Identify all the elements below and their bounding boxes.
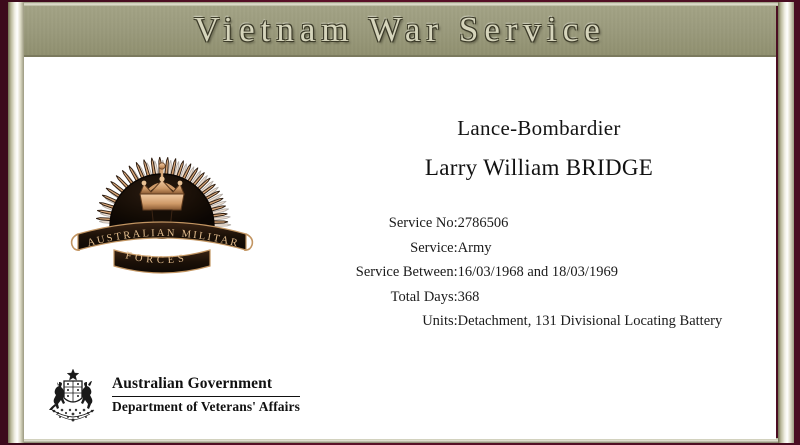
certificate-frame: Vietnam War Service <box>0 0 800 445</box>
australian-government-logo: Australian Government Department of Vete… <box>42 366 300 424</box>
government-wordmark: Australian Government Department of Vete… <box>112 375 300 415</box>
field-label-units: Units: <box>356 309 458 334</box>
table-row: Units: Detachment, 131 Divisional Locati… <box>356 309 722 334</box>
government-line-1: Australian Government <box>112 375 300 395</box>
government-line-2: Department of Veterans' Affairs <box>112 399 300 415</box>
frame-bevel-left <box>8 2 24 443</box>
certificate-page: Vietnam War Service <box>24 6 776 439</box>
frame-bevel-right <box>778 2 794 443</box>
field-value-units: Detachment, 131 Divisional Locating Batt… <box>458 309 723 334</box>
service-details-table: Service No: 2786506 Service: Army Servic… <box>356 211 722 334</box>
service-record: Lance-Bombardier Larry William BRIDGE Se… <box>314 116 764 334</box>
field-value-total-days: 368 <box>458 285 723 310</box>
page-title: Vietnam War Service <box>24 10 776 50</box>
title-band: Vietnam War Service <box>24 6 776 57</box>
table-row: Total Days: 368 <box>356 285 722 310</box>
field-label-total-days: Total Days: <box>356 285 458 310</box>
table-row: Service: Army <box>356 236 722 261</box>
table-row: Service No: 2786506 <box>356 211 722 236</box>
field-label-service-no: Service No: <box>356 211 458 236</box>
table-row: Service Between: 16/03/1968 and 18/03/19… <box>356 260 722 285</box>
rising-sun-badge: AUSTRALIAN MILITARY FORCES <box>52 98 272 288</box>
field-value-service-no: 2786506 <box>458 211 723 236</box>
field-label-service-between: Service Between: <box>356 260 458 285</box>
scroll-lower: FORCES <box>114 250 210 273</box>
field-value-service: Army <box>458 236 723 261</box>
commonwealth-coat-of-arms-icon <box>42 366 104 424</box>
wordmark-divider <box>112 396 300 397</box>
field-value-service-between: 16/03/1968 and 18/03/1969 <box>458 260 723 285</box>
rank-title: Lance-Bombardier <box>314 116 764 141</box>
field-label-service: Service: <box>356 236 458 261</box>
scroll-upper: AUSTRALIAN MILITARY <box>52 98 252 250</box>
veteran-name: Larry William BRIDGE <box>314 155 764 181</box>
